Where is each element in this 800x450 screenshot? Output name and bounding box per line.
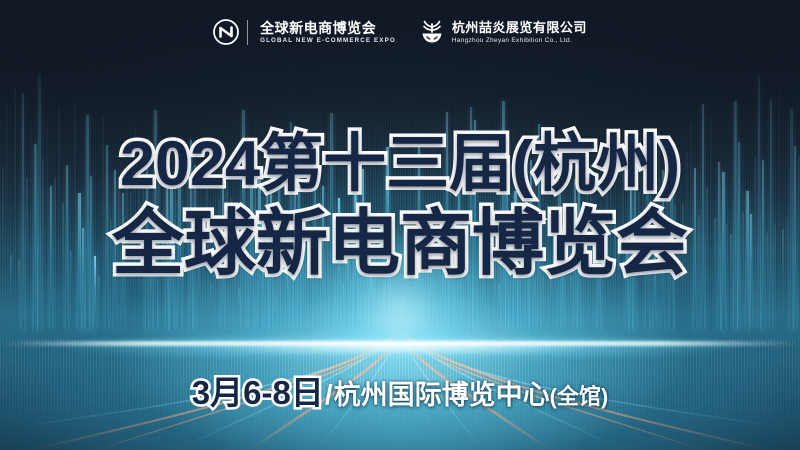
globe-wave-logo-icon	[213, 19, 239, 45]
event-venue: 杭州国际博览中心	[334, 376, 550, 414]
logo-expo-name-cn: 全球新电商博览会	[260, 20, 396, 36]
poster-title-block: 2024第十三届(杭州) 全球新电商博览会	[0, 128, 800, 286]
logo-organizer-text: 杭州喆炎展览有限公司 Hangzhou Zheyan Exhibition Co…	[452, 20, 587, 45]
logo-organizer-name-cn: 杭州喆炎展览有限公司	[452, 20, 587, 36]
horizon-glow-band	[0, 330, 800, 364]
logo-expo-name-en: GLOBAL NEW E-COMMERCE EXPO	[260, 36, 396, 45]
poster-title-line-1: 2024第十三届(杭州)	[0, 128, 800, 200]
event-venue-note: (全馆)	[550, 378, 609, 416]
event-date: 3月6-8日	[192, 374, 324, 412]
logo-divider	[247, 20, 248, 45]
horizon-glow-line	[0, 341, 800, 346]
poster-title-line-2: 全球新电商博览会	[0, 202, 800, 286]
logo-organizer: 杭州喆炎展览有限公司 Hangzhou Zheyan Exhibition Co…	[418, 19, 587, 45]
header-logo-row: 全球新电商博览会 GLOBAL NEW E-COMMERCE EXPO	[0, 19, 800, 45]
sprout-bowl-logo-icon	[418, 19, 446, 45]
date-venue-bar: 3月6-8日 / 杭州国际博览中心 (全馆)	[0, 374, 800, 416]
date-venue-separator: /	[324, 376, 334, 414]
logo-organizer-name-en: Hangzhou Zheyan Exhibition Co., Ltd.	[452, 36, 587, 45]
event-poster: 全球新电商博览会 GLOBAL NEW E-COMMERCE EXPO	[0, 0, 800, 450]
logo-expo: 全球新电商博览会 GLOBAL NEW E-COMMERCE EXPO	[213, 19, 396, 45]
logo-expo-text: 全球新电商博览会 GLOBAL NEW E-COMMERCE EXPO	[260, 20, 396, 45]
